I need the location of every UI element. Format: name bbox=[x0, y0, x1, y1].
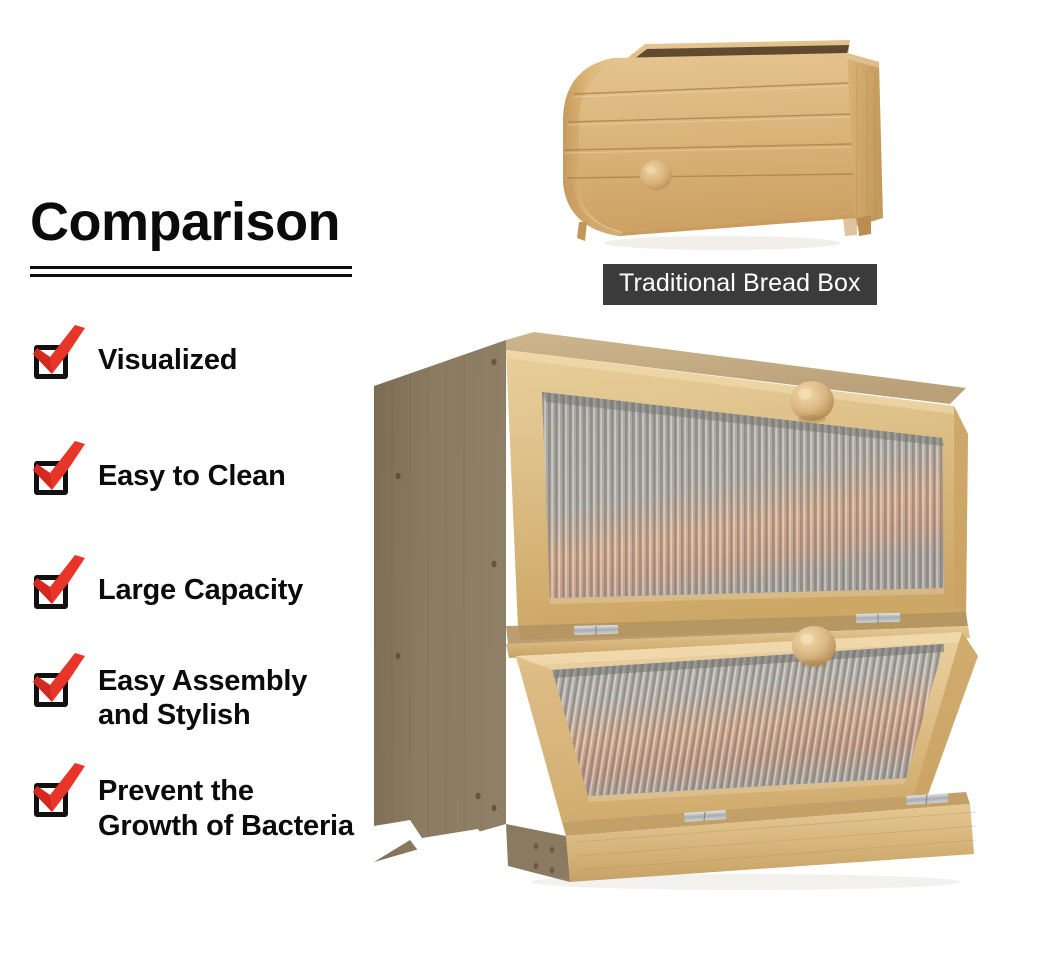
feature-list: Visualized Easy to Clean bbox=[28, 332, 378, 843]
list-item-label: Easy to Clean bbox=[84, 448, 286, 493]
checkbox-square bbox=[34, 345, 68, 379]
list-item: Easy Assembly and Stylish bbox=[28, 660, 378, 732]
checkbox-checked[interactable] bbox=[28, 770, 84, 822]
list-item-line: Prevent the bbox=[98, 774, 354, 808]
checkbox-checked[interactable] bbox=[28, 562, 84, 614]
list-item: Large Capacity bbox=[28, 562, 378, 616]
checkbox-checked[interactable] bbox=[28, 660, 84, 712]
list-item-line: Easy to Clean bbox=[98, 459, 286, 493]
trad-foot-right bbox=[857, 215, 871, 236]
checkbox-checked[interactable] bbox=[28, 332, 84, 384]
list-item-label: Large Capacity bbox=[84, 562, 303, 607]
list-item-line: Growth of Bacteria bbox=[98, 809, 354, 843]
list-item-line: Easy Assembly bbox=[98, 664, 307, 698]
title-underline bbox=[30, 266, 352, 277]
title-rule-top bbox=[30, 266, 352, 269]
list-item-label: Visualized bbox=[84, 332, 237, 377]
hinge-upper-left bbox=[574, 625, 618, 635]
checkbox-square bbox=[34, 783, 68, 817]
checkbox-square bbox=[34, 673, 68, 707]
featured-bread-box-image bbox=[366, 326, 1016, 896]
badge-label: Traditional Bread Box bbox=[619, 269, 861, 297]
list-item: Easy to Clean bbox=[28, 448, 378, 502]
trad-knob bbox=[640, 160, 672, 190]
page-title: Comparison bbox=[30, 195, 360, 249]
checkbox-square bbox=[34, 461, 68, 495]
trad-foot-left bbox=[577, 222, 587, 241]
list-item-line: and Stylish bbox=[98, 698, 307, 732]
upper-door-right-cheek bbox=[954, 406, 968, 614]
base-left-return bbox=[506, 824, 570, 882]
list-item-line: Large Capacity bbox=[98, 573, 303, 607]
title-rule-bottom bbox=[30, 274, 352, 277]
carcass-side-panel bbox=[374, 340, 506, 862]
traditional-bread-box-image bbox=[527, 22, 912, 262]
list-item-label: Prevent the Growth of Bacteria bbox=[84, 770, 354, 842]
list-item: Prevent the Growth of Bacteria bbox=[28, 770, 378, 842]
trad-shadow bbox=[604, 236, 840, 250]
checkbox-square bbox=[34, 575, 68, 609]
list-item: Visualized bbox=[28, 332, 378, 386]
hinge-upper-right bbox=[856, 613, 900, 623]
checkbox-checked[interactable] bbox=[28, 448, 84, 500]
featured-shadow bbox=[531, 874, 961, 890]
title-block: Comparison bbox=[30, 195, 360, 277]
list-item-line: Visualized bbox=[98, 343, 237, 377]
list-item-label: Easy Assembly and Stylish bbox=[84, 660, 307, 732]
traditional-bread-box-badge: Traditional Bread Box bbox=[603, 264, 877, 305]
lower-door bbox=[516, 626, 978, 822]
infographic-page: Comparison Visualized bbox=[0, 0, 1056, 953]
